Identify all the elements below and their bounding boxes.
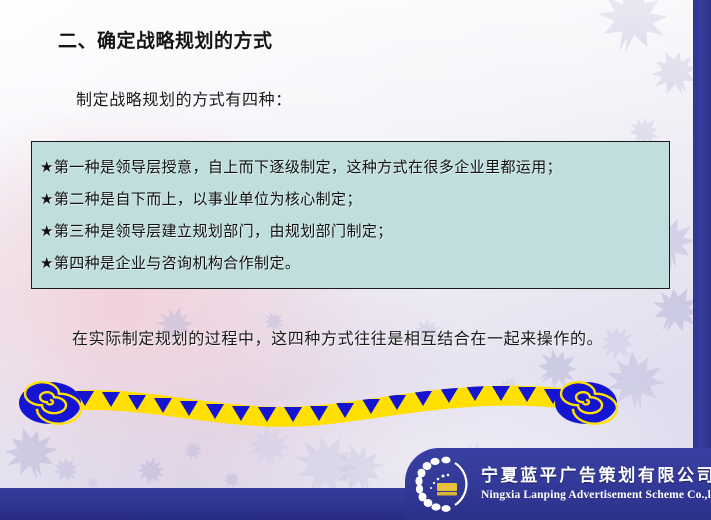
page-title: 二、确定战略规划的方式 xyxy=(58,26,273,53)
frame-right-strip xyxy=(693,0,711,520)
bullet-item: ★第四种是企业与咨询机构合作制定。 xyxy=(40,248,669,280)
logo-badge xyxy=(437,483,457,491)
bullet-item: ★第三种是领导层建立规划部门，由规划部门制定； xyxy=(40,216,669,248)
company-name-cn: 宁夏蓝平广告策划有限公司 xyxy=(481,466,711,486)
slide-canvas: 二、确定战略规划的方式 制定战略规划的方式有四种： ★第一种是领导层授意，自上而… xyxy=(0,0,711,520)
company-name-block: 宁夏蓝平广告策划有限公司 Ningxia Lanping Advertiseme… xyxy=(481,466,711,503)
bullet-content-box: ★第一种是领导层授意，自上而下逐级制定，这种方式在很多企业里都运用； ★第二种是… xyxy=(31,141,670,289)
company-name-en: Ningxia Lanping Advertisement Scheme Co.… xyxy=(481,488,711,503)
company-logo-band: 宁夏蓝平广告策划有限公司 Ningxia Lanping Advertiseme… xyxy=(405,448,711,520)
closing-text: 在实际制定规划的过程中，这四种方式往往是相互结合在一起来操作的。 xyxy=(72,325,603,349)
company-logo-icon xyxy=(415,455,477,513)
spiral-ornament-right xyxy=(555,382,617,424)
bullet-item: ★第一种是领导层授意，自上而下逐级制定，这种方式在很多企业里都运用； xyxy=(40,152,669,184)
intro-text: 制定战略规划的方式有四种： xyxy=(76,86,292,110)
decorative-divider xyxy=(18,378,618,428)
bullet-item: ★第二种是自下而上，以事业单位为核心制定； xyxy=(40,184,669,216)
spiral-ornament-left xyxy=(19,382,81,424)
logo-badge-sub xyxy=(437,492,457,496)
